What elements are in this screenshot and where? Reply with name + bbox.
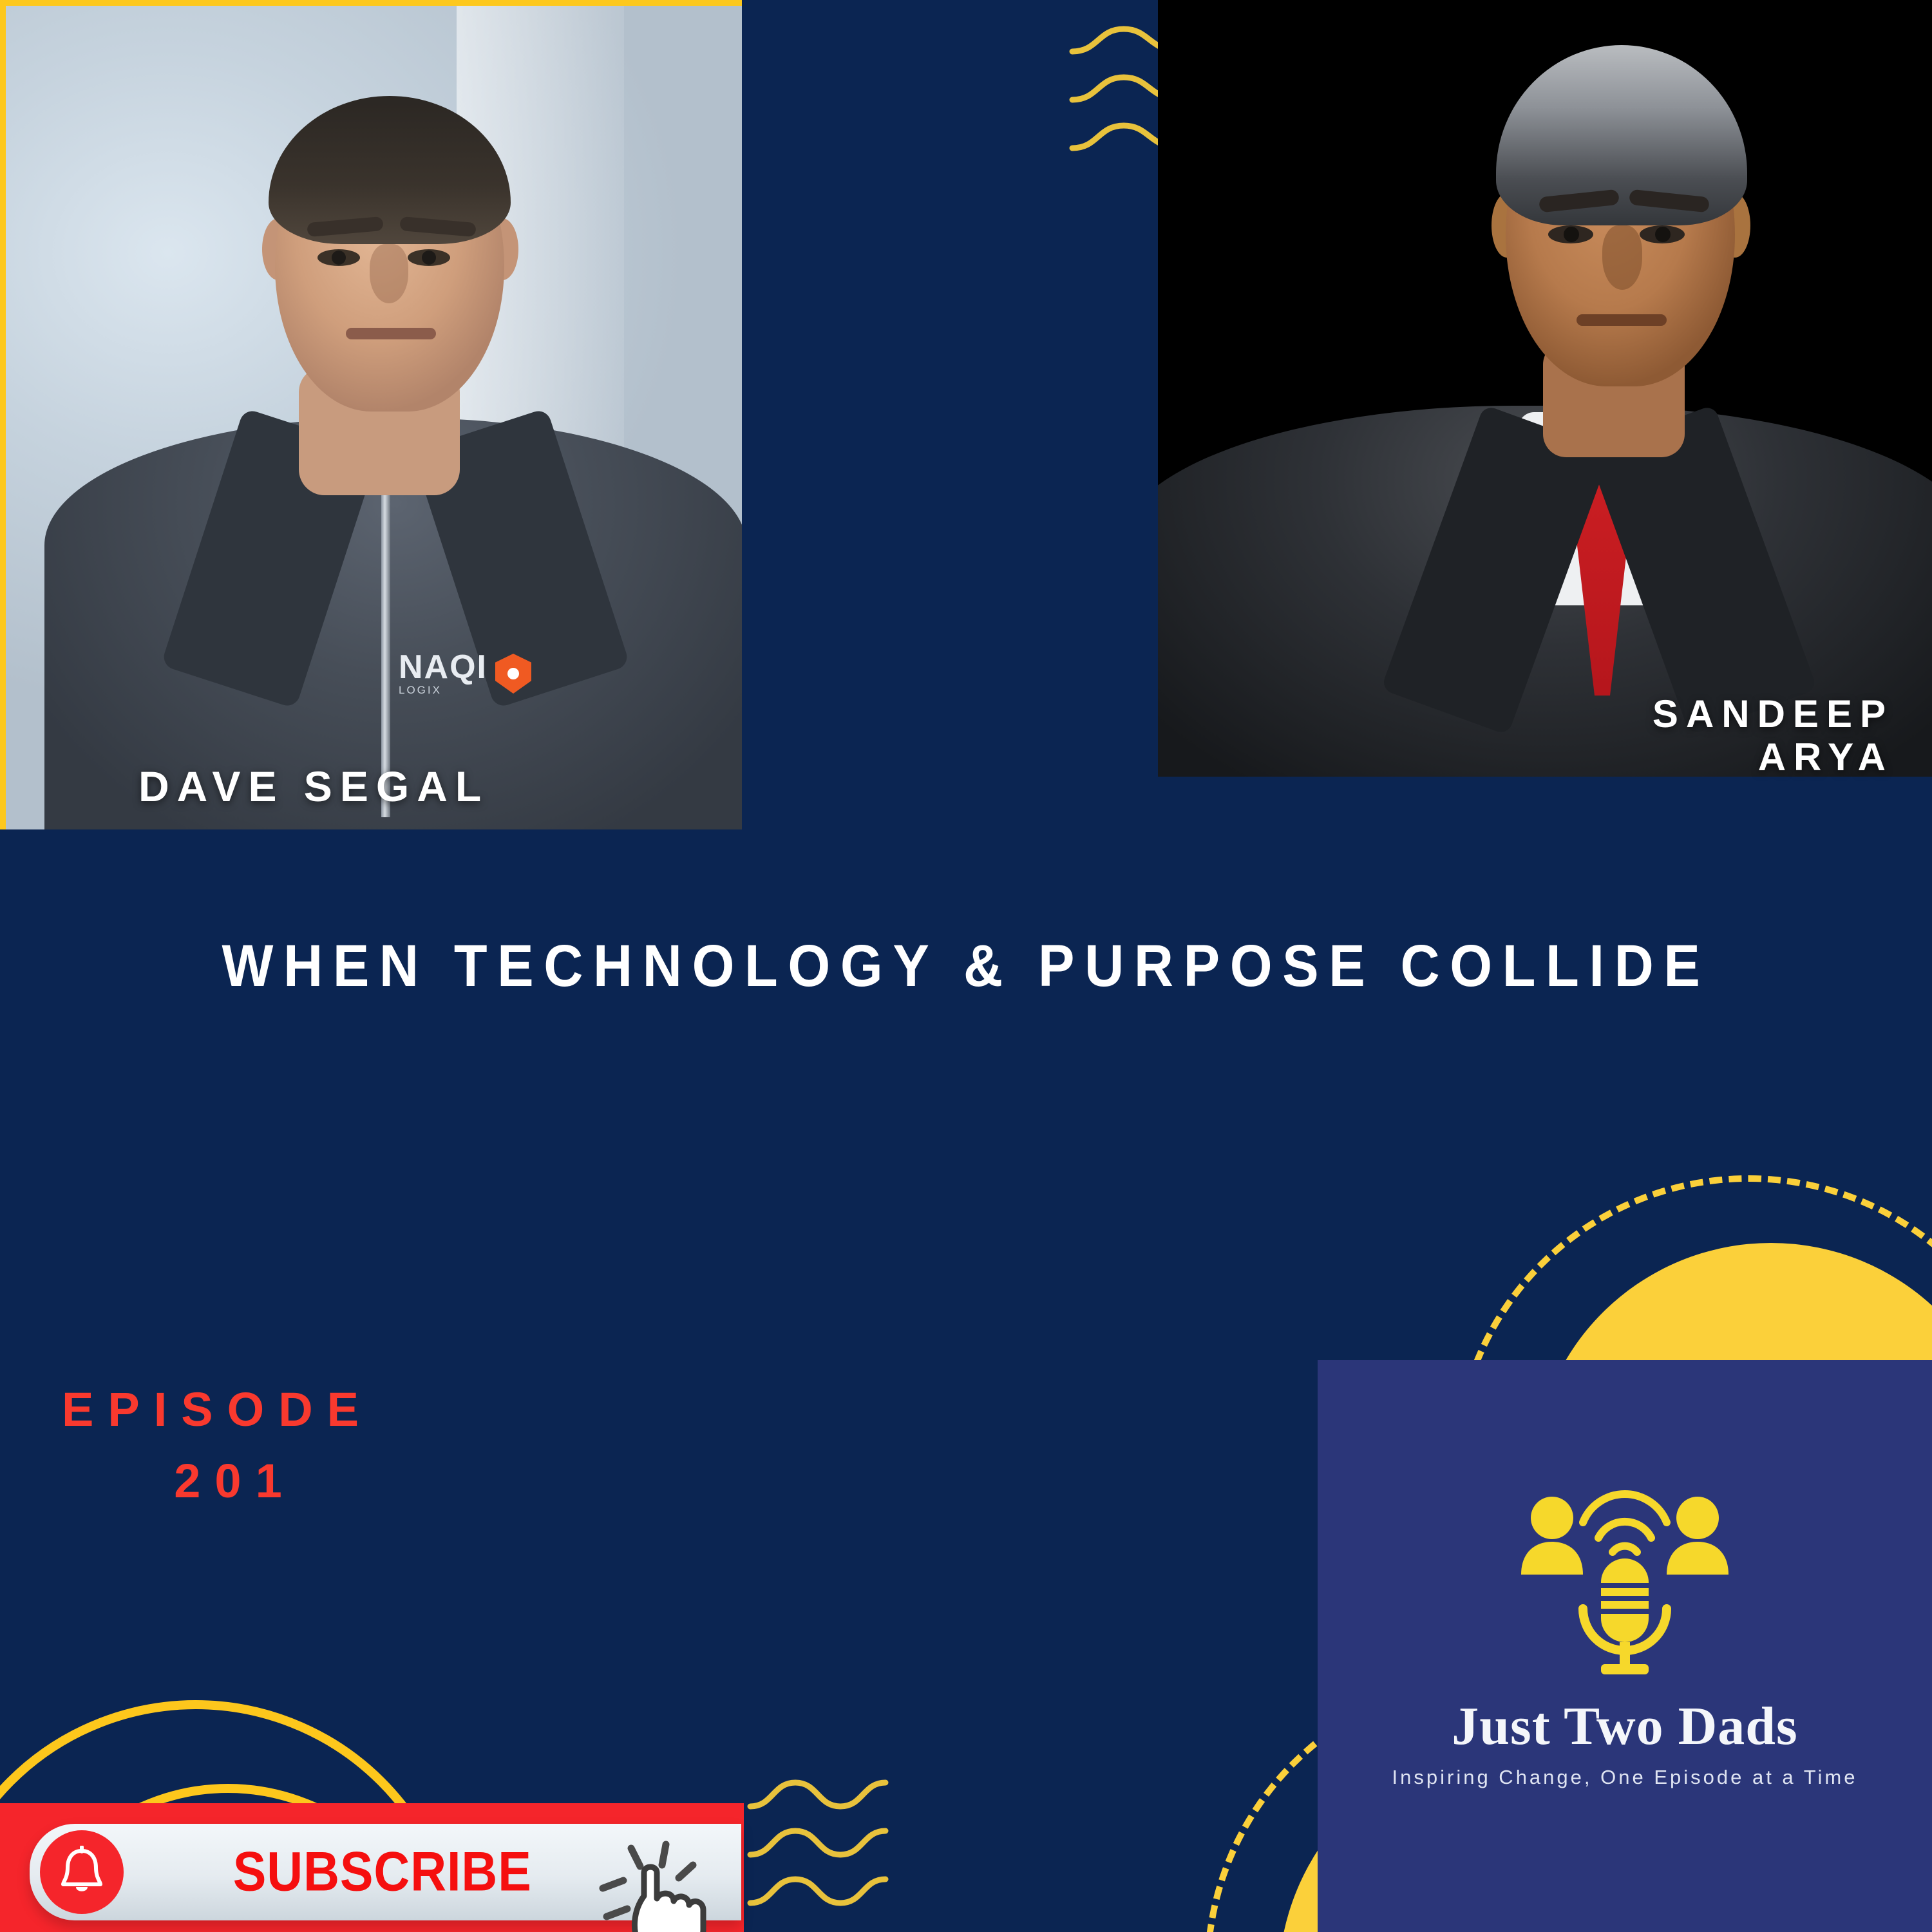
naqi-wordmark: NAQI <box>399 650 488 684</box>
guest-photo-left: NAQI LOGIX <box>0 0 742 829</box>
eye-left <box>317 249 360 266</box>
naqi-subtext: LOGIX <box>399 684 488 697</box>
episode-number-block: EPISODE 201 <box>62 1374 422 1517</box>
mouth-left <box>346 328 436 339</box>
eye-right-right-photo <box>1640 225 1685 243</box>
guest-name-right-line1: SANDEEP <box>1417 692 1893 735</box>
eye-left-right-photo <box>1548 225 1593 243</box>
podcast-episode-cover: NAQI LOGIX DAVE SEGAL SANDEEP ARYA WHEN … <box>0 0 1932 1932</box>
episode-title: WHEN TECHNOLOGY & PURPOSE COLLIDE <box>77 933 1855 1000</box>
bell-icon <box>57 1846 107 1899</box>
subscribe-label: SUBSCRIBE <box>233 1841 532 1904</box>
naqi-shield-icon <box>495 654 531 694</box>
episode-number: 201 <box>62 1445 422 1517</box>
episode-label: EPISODE <box>62 1383 373 1436</box>
nose-right <box>1602 225 1642 290</box>
guest-name-right-line2: ARYA <box>1417 735 1893 779</box>
mouth-right <box>1577 314 1667 326</box>
guest-name-right: SANDEEP ARYA <box>1417 692 1893 779</box>
guest-photo-right <box>1158 0 1932 777</box>
eye-right <box>408 249 450 266</box>
nose-left <box>370 244 408 303</box>
brand-name: Just Two Dads <box>1318 1695 1932 1757</box>
wave-lines-bottom <box>747 1777 979 1926</box>
subscribe-banner[interactable]: SUBSCRIBE <box>0 1803 744 1932</box>
hair-right <box>1496 45 1747 225</box>
bell-icon-circle[interactable] <box>40 1830 124 1914</box>
guest-name-left: DAVE SEGAL <box>138 763 489 811</box>
subscribe-button[interactable]: SUBSCRIBE <box>30 1824 741 1920</box>
brand-tagline: Inspiring Change, One Episode at a Time <box>1318 1766 1932 1789</box>
podcast-microphone-two-people-icon <box>1519 1482 1731 1676</box>
brand-panel: Just Two Dads Inspiring Change, One Epis… <box>1318 1360 1932 1932</box>
pointing-hand-click-icon <box>564 1826 738 1932</box>
naqi-jacket-logo: NAQI LOGIX <box>399 650 592 697</box>
